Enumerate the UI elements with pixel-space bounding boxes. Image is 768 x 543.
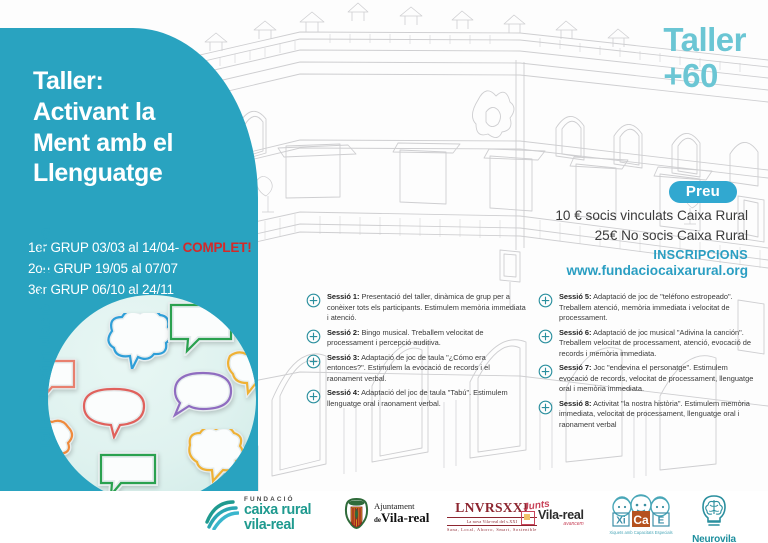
session-label: Sessió 1: xyxy=(327,292,359,301)
speech-bubbles-photo xyxy=(48,295,256,503)
session-label: Sessió 7: xyxy=(559,363,591,372)
price-lines: 10 € socis vinculats Caixa Rural 25€ No … xyxy=(428,206,748,247)
title-line-2: Activant la xyxy=(33,97,248,128)
plus-circle-icon xyxy=(306,329,321,344)
caixa-rural-name-line1: caixa rural xyxy=(244,503,311,518)
lnvrsxxi-sub2: Sana, Local, Ahorro, Smart, Sostenible xyxy=(447,527,537,532)
neurovila-brain-bulb-icon xyxy=(692,494,736,528)
title-line-4: Llenguatge xyxy=(33,158,248,189)
title-line-1: Taller: xyxy=(33,66,248,97)
logo-junts-vila-real: Junts Vila-real avancem xyxy=(521,498,584,527)
speech-bubble-yellow-icon xyxy=(180,429,246,485)
session-text: Sessió 8: Activitat "la nostra història"… xyxy=(559,399,758,431)
registration-url[interactable]: www.fundaciocaixarural.org xyxy=(428,263,748,278)
session-text: Sessió 4: Adaptació del joc de taula "Ta… xyxy=(327,388,526,409)
logo-caixa-rural-vila-real: FUNDACIÓ caixa rural vila-real xyxy=(205,497,311,533)
plus-circle-icon xyxy=(538,364,553,379)
session-item: Sessió 3: Adaptació de joc de taula "¿Có… xyxy=(306,353,526,385)
junts-square-icon xyxy=(521,511,535,525)
caixa-rural-name-line2: vila-real xyxy=(244,518,311,533)
sessions-column-left: Sessió 1: Presentació del taller, dinàmi… xyxy=(306,292,526,480)
taller-plus60-heading: Taller +60 xyxy=(663,22,746,93)
price-line-members: 10 € socis vinculats Caixa Rural xyxy=(428,206,748,226)
plus-circle-icon xyxy=(306,389,321,404)
caixa-rural-wave-icon xyxy=(205,500,239,530)
session-item: Sessió 8: Activitat "la nostra història"… xyxy=(538,399,758,431)
title-line-3: Ment amb el xyxy=(33,128,248,159)
xicae-children-icon: Xi Ca E Xiquets amb Capacitats Especials xyxy=(609,494,673,538)
session-label: Sessió 8: xyxy=(559,399,591,408)
speech-bubble-green-icon xyxy=(166,300,238,356)
speech-bubble-yellow-right-icon xyxy=(226,350,256,398)
plus-circle-icon xyxy=(306,354,321,369)
svg-text:Ca: Ca xyxy=(633,513,649,527)
group-date-row: 2on GRUP 19/05 al 07/07 xyxy=(28,258,258,279)
plus-circle-icon xyxy=(538,329,553,344)
svg-text:E: E xyxy=(658,516,665,527)
plus-circle-icon xyxy=(306,293,321,308)
taller-heading-line2: +60 xyxy=(663,58,746,94)
inscriptions-label: INSCRIPCIONS xyxy=(428,248,748,262)
logo-ajuntament-vila-real: Ajuntament deVila-real xyxy=(343,497,429,529)
logo-xicae: Xi Ca E Xiquets amb Capacitats Especials xyxy=(609,494,673,538)
svg-text:Xiquets amb Capacitats Especia: Xiquets amb Capacitats Especials xyxy=(609,530,672,535)
session-item: Sessió 2: Bingo musical. Treballem veloc… xyxy=(306,328,526,349)
group-dates-list: 1er GRUP 03/03 al 14/04- COMPLET! 2on GR… xyxy=(28,237,258,301)
logo-neurovila: Neurovila xyxy=(692,494,736,543)
speech-bubble-blue-icon xyxy=(100,313,170,369)
price-line-nonmembers: 25€ No socis Caixa Rural xyxy=(428,226,748,246)
plus-circle-icon xyxy=(538,293,553,308)
speech-bubble-orange-icon xyxy=(48,417,80,471)
session-item: Sessió 5: Adaptació de joc de "teléfono … xyxy=(538,292,758,324)
sessions-section: Sessió 1: Presentació del taller, dinàmi… xyxy=(306,292,758,480)
ajuntament-line2: Vila-real xyxy=(381,510,429,525)
session-item: Sessió 4: Adaptació del joc de taula "Ta… xyxy=(306,388,526,409)
group-date-row: 1er GRUP 03/03 al 14/04- COMPLET! xyxy=(28,237,258,258)
neurovila-name: Neurovila xyxy=(692,534,736,543)
session-item: Sessió 7: Joc "endevina el personatge". … xyxy=(538,363,758,395)
sessions-column-right: Sessió 5: Adaptació de joc de "teléfono … xyxy=(538,292,758,480)
session-label: Sessió 2: xyxy=(327,328,359,337)
preu-badge: Preu xyxy=(669,181,737,203)
session-label: Sessió 4: xyxy=(327,388,359,397)
taller-heading-line1: Taller xyxy=(663,22,746,58)
workshop-title: Taller: Activant la Ment amb el Llenguat… xyxy=(33,66,248,189)
complet-badge: COMPLET! xyxy=(183,240,252,255)
session-text: Sessió 1: Presentació del taller, dinàmi… xyxy=(327,292,526,324)
ajuntament-de: de xyxy=(374,516,381,524)
session-text: Sessió 7: Joc "endevina el personatge". … xyxy=(559,363,758,395)
session-item: Sessió 6: Adaptació de joc musical "Adiv… xyxy=(538,328,758,360)
speech-bubble-coral-icon xyxy=(78,385,150,439)
svg-text:Xi: Xi xyxy=(616,516,626,527)
session-text: Sessió 2: Bingo musical. Treballem veloc… xyxy=(327,328,526,349)
poster-root: Taller: Activant la Ment amb el Llenguat… xyxy=(0,0,768,543)
session-item: Sessió 1: Presentació del taller, dinàmi… xyxy=(306,292,526,324)
ajuntament-coat-of-arms-icon xyxy=(343,497,370,529)
session-label: Sessió 6: xyxy=(559,328,591,337)
session-label: Sessió 3: xyxy=(327,353,359,362)
session-text: Sessió 5: Adaptació de joc de "teléfono … xyxy=(559,292,758,324)
session-label: Sessió 5: xyxy=(559,292,591,301)
session-text: Sessió 6: Adaptació de joc musical "Adiv… xyxy=(559,328,758,360)
speech-bubble-salmon-icon xyxy=(48,357,78,407)
plus-circle-icon xyxy=(538,400,553,415)
session-text: Sessió 3: Adaptació de joc de taula "¿Có… xyxy=(327,353,526,385)
